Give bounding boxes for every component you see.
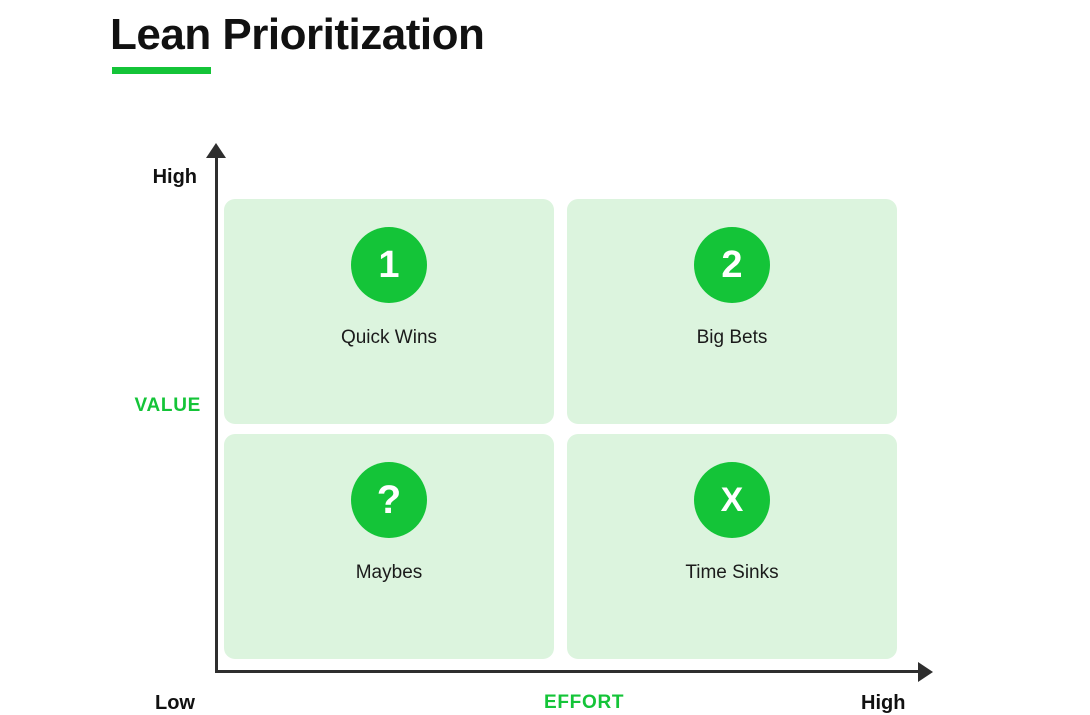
page-title: Lean Prioritization (110, 8, 484, 62)
quadrant-badge-number-1: 1 (351, 227, 427, 303)
value-axis-title: VALUE (135, 395, 201, 417)
value-axis-arrowhead-icon (206, 143, 226, 158)
quadrant-badge-cross-icon: X (694, 462, 770, 538)
effort-axis-line (215, 670, 922, 673)
effort-axis-low-label: Low (155, 692, 195, 715)
value-axis-line (215, 152, 218, 673)
quadrant-big-bets[interactable]: 2 Big Bets (567, 199, 897, 424)
title-underline-rule (112, 67, 211, 74)
value-axis-high-label: High (153, 166, 197, 189)
effort-axis-high-label: High (861, 692, 905, 715)
effort-axis-arrowhead-icon (918, 662, 933, 682)
quadrant-maybes[interactable]: ? Maybes (224, 434, 554, 659)
quadrant-quick-wins[interactable]: 1 Quick Wins (224, 199, 554, 424)
lean-prioritization-diagram: { "title": "Lean Prioritization", "color… (0, 0, 1090, 710)
quadrant-label-time-sinks: Time Sinks (567, 562, 897, 584)
quadrant-badge-number-2: 2 (694, 227, 770, 303)
prioritization-matrix: 1 Quick Wins 2 Big Bets ? Maybes X Time … (224, 199, 897, 659)
quadrant-label-big-bets: Big Bets (567, 327, 897, 349)
quadrant-time-sinks[interactable]: X Time Sinks (567, 434, 897, 659)
quadrant-badge-question-mark-icon: ? (351, 462, 427, 538)
quadrant-label-maybes: Maybes (224, 562, 554, 584)
quadrant-label-quick-wins: Quick Wins (224, 327, 554, 349)
effort-axis-title: EFFORT (544, 692, 624, 714)
